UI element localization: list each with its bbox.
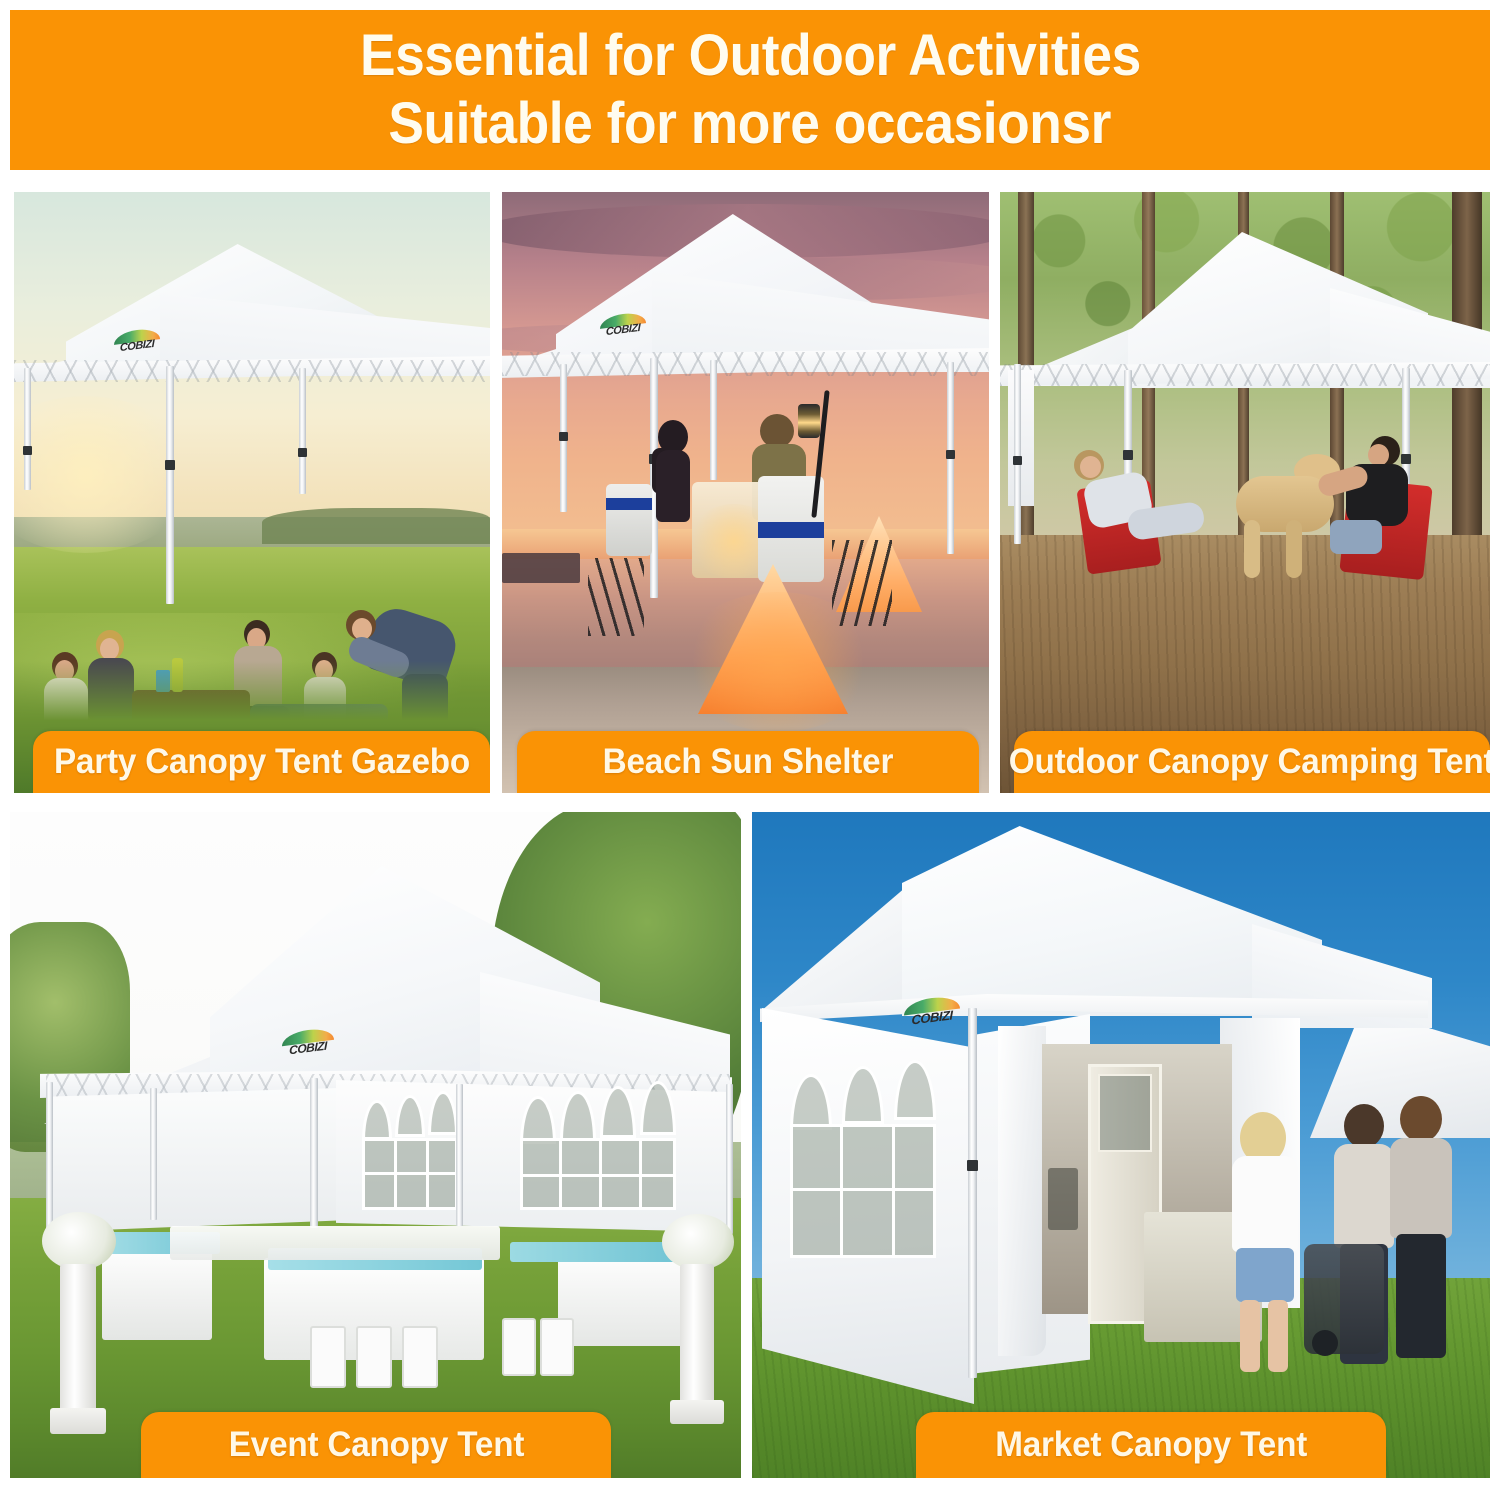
event-canopy-pole-5 [726,1084,733,1234]
beach-grass-tuft-2 [832,540,892,626]
beach-pole-joint-4 [946,450,955,459]
caption-event: Event Canopy Tent [141,1412,611,1478]
banner-headline-line2: Suitable for more occasionsr [389,90,1112,158]
beach-pole-joint-1 [559,432,568,441]
market-door-glass [1098,1074,1152,1152]
camping-canopy-truss [1000,364,1490,386]
market-stroller-wheel [1312,1330,1338,1356]
party-canopy-pole-1 [24,368,31,490]
market-tea-sign [1048,1168,1078,1230]
banner-headline-line1: Essential for Outdoor Activities [360,22,1141,90]
caption-camping-label: Outdoor Canopy Camping Tent [1009,742,1490,782]
product-infographic: Essential for Outdoor Activities Suitabl… [0,0,1500,1500]
caption-market: Market Canopy Tent [916,1412,1386,1478]
event-chair-4 [502,1318,536,1376]
beach-chair-left-sash [606,498,652,510]
panel-event-canopy-tent[interactable]: COBIZI [10,812,741,1478]
beach-canopy-pole-3 [710,360,717,480]
party-canopy-pole-2 [166,366,174,604]
event-floral-pedestal-left [36,1212,120,1436]
beach-grass-tuft-1 [588,558,644,636]
beach-scene: COBIZI [502,192,989,793]
caption-event-label: Event Canopy Tent [228,1425,523,1465]
caption-beach-label: Beach Sun Shelter [603,742,894,782]
camping-canopy-sidewall [1008,370,1034,506]
event-window-group-1 [362,1100,458,1218]
event-sidewall-left [48,1088,338,1232]
event-floral-pedestal-right [658,1214,738,1428]
event-canopy-pole-4 [456,1084,463,1226]
panel-market-canopy-tent[interactable]: COBIZI [752,812,1490,1478]
market-scene: COBIZI [752,812,1490,1478]
caption-market-label: Market Canopy Tent [995,1425,1307,1465]
market-shopper-blonde [1222,1112,1306,1392]
caption-party-label: Party Canopy Tent Gazebo [53,742,469,782]
party-treeline [262,508,490,544]
camping-scene [1000,192,1490,793]
event-canopy-pole-3 [310,1078,318,1228]
panel-outdoor-canopy-camping-tent[interactable]: Outdoor Canopy Camping Tent [1000,192,1490,793]
beach-pier-silhouette [502,553,580,583]
market-shopper-2 [1382,1096,1460,1388]
party-pole-joint-3 [298,448,307,457]
header-banner: Essential for Outdoor Activities Suitabl… [10,10,1490,170]
beach-canopy-truss [502,352,989,376]
market-window-group [790,1060,940,1276]
event-chair-2 [356,1326,392,1388]
party-canopy-pole-3 [299,368,306,494]
camping-canopy-pole-1 [1014,364,1021,544]
event-chair-1 [310,1326,346,1388]
party-pole-joint-1 [23,446,32,455]
caption-camping: Outdoor Canopy Camping Tent [1014,731,1490,793]
caption-party: Party Canopy Tent Gazebo [33,731,490,793]
brand-logo-market: COBIZI [904,995,960,1028]
brand-logo-event: COBIZI [282,1027,334,1057]
market-rattan-chair [1098,1146,1160,1238]
event-table-back [170,1226,500,1260]
party-pole-joint-2 [165,460,175,470]
market-curtain-left [998,1026,1046,1356]
camping-person-woman [1066,450,1206,584]
beach-lantern [798,404,820,438]
event-chair-3 [402,1326,438,1388]
market-pole-joint [967,1160,978,1171]
camping-person-man [1318,436,1438,586]
camping-pole-joint-1 [1013,456,1022,465]
event-chair-5 [540,1318,574,1376]
beach-chair-blue-sash [758,522,824,538]
panel-beach-sun-shelter[interactable]: COBIZI [502,192,989,793]
beach-chair-left [606,484,652,556]
market-canopy-pole-corner [968,1008,977,1378]
event-scene: COBIZI [10,812,741,1478]
event-canopy-pole-2 [150,1088,157,1220]
party-scene: COBIZI [14,192,490,793]
caption-beach: Beach Sun Shelter [517,731,979,793]
event-window-group-2 [520,1090,676,1214]
panel-party-canopy-tent-gazebo[interactable]: COBIZI [14,192,490,793]
party-canopy-truss [14,360,490,382]
